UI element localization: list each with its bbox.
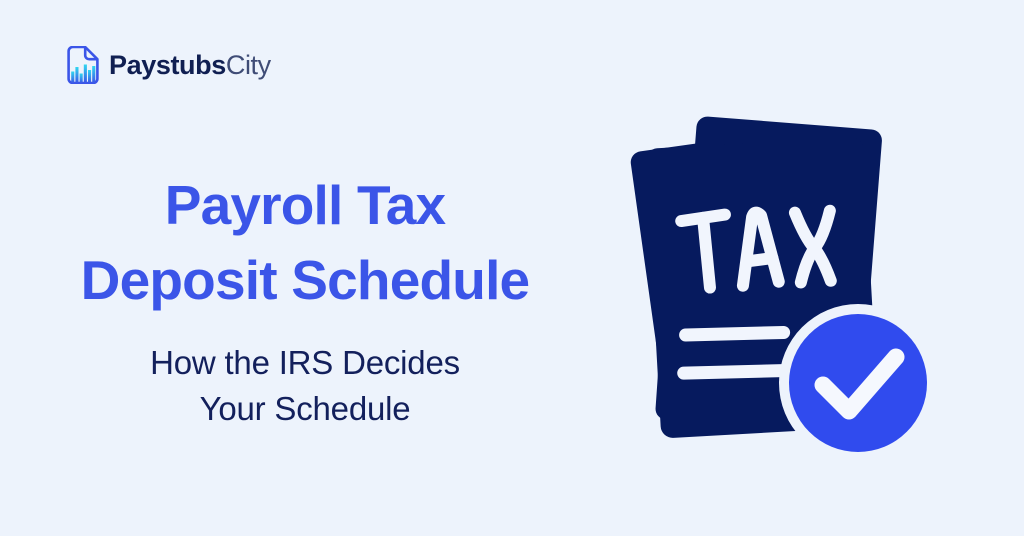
page-subtitle: How the IRS Decides Your Schedule [36, 340, 574, 434]
hero-text-block: Payroll Tax Deposit Schedule How the IRS… [36, 168, 574, 433]
page-title: Payroll Tax Deposit Schedule [36, 168, 574, 318]
headline-line-1: Payroll Tax [36, 168, 574, 243]
brand-name-strong: Paystubs [109, 52, 226, 79]
check-badge [779, 304, 937, 462]
hero-banner: PaystubsCity Payroll Tax Deposit Schedul… [0, 0, 1024, 536]
brand-name-light: City [226, 52, 271, 79]
headline-line-2: Deposit Schedule [36, 243, 574, 318]
brand-logo[interactable]: PaystubsCity [64, 46, 271, 84]
subheadline-line-2: Your Schedule [36, 386, 574, 433]
document-body-line-2 [684, 368, 782, 376]
tax-document-illustration [604, 104, 944, 476]
check-circle [789, 314, 927, 452]
subheadline-line-1: How the IRS Decides [36, 340, 574, 387]
document-bar-chart-icon [64, 46, 100, 84]
document-body-line-1 [686, 330, 784, 338]
brand-wordmark: PaystubsCity [109, 52, 271, 79]
